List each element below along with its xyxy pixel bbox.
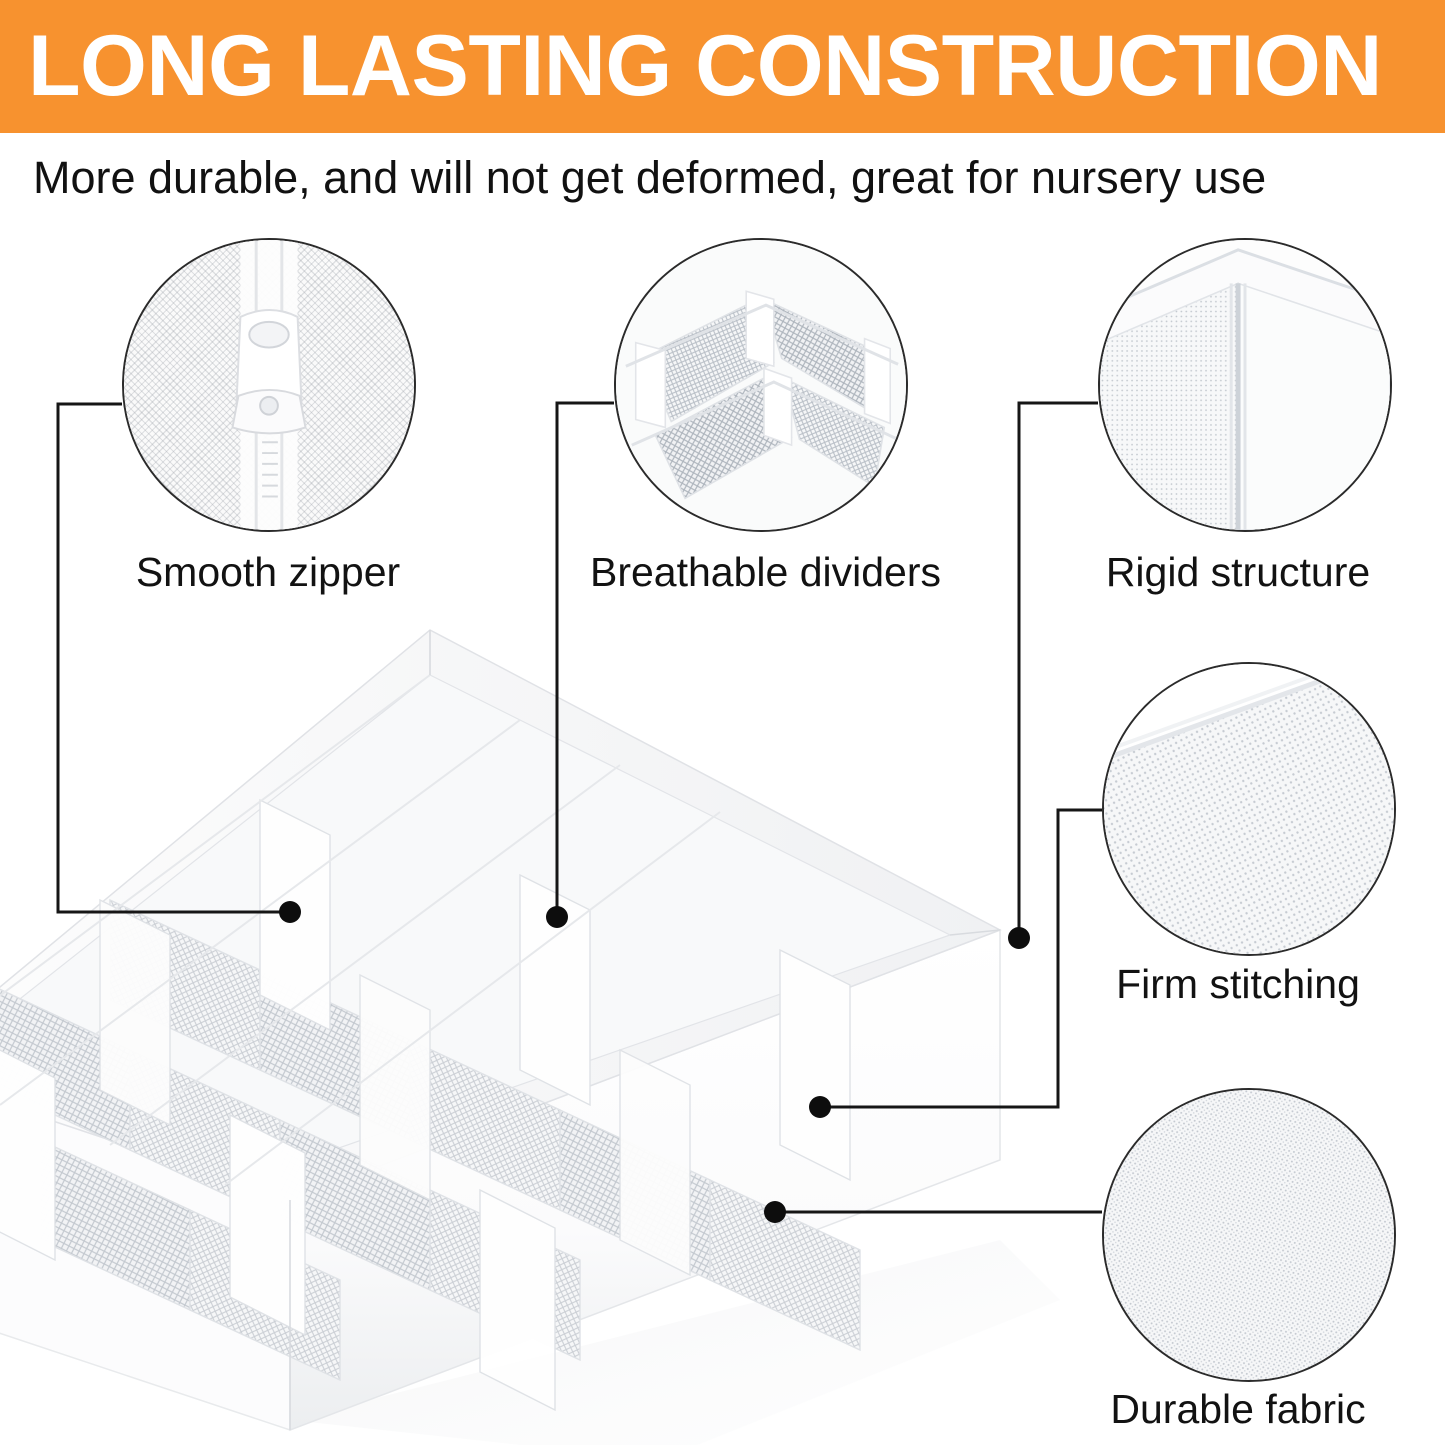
callout-label-durable-fabric: Durable fabric [1078,1385,1398,1433]
callout-label-rigid-structure: Rigid structure [1088,548,1388,596]
callout-label-firm-stitching: Firm stitching [1078,960,1398,1008]
infographic-page: LONG LASTING CONSTRUCTION More durable, … [0,0,1445,1445]
product-image [0,600,1060,1445]
callout-circle-breathable-dividers [614,238,908,532]
zipper-illustration [124,240,414,530]
structure-illustration [1100,240,1390,530]
stitching-illustration [1104,664,1394,954]
callout-circle-smooth-zipper [122,238,416,532]
header-banner: LONG LASTING CONSTRUCTION [0,0,1445,133]
callout-circle-durable-fabric [1102,1088,1396,1382]
fabric-illustration [1104,1090,1394,1380]
callout-circle-firm-stitching [1102,662,1396,956]
subtitle-text: More durable, and will not get deformed,… [33,150,1423,206]
page-title: LONG LASTING CONSTRUCTION [28,10,1428,122]
callout-label-breathable-dividers: Breathable dividers [590,548,930,596]
dividers-illustration [616,240,906,530]
callout-circle-rigid-structure [1098,238,1392,532]
callout-label-smooth-zipper: Smooth zipper [118,548,418,596]
